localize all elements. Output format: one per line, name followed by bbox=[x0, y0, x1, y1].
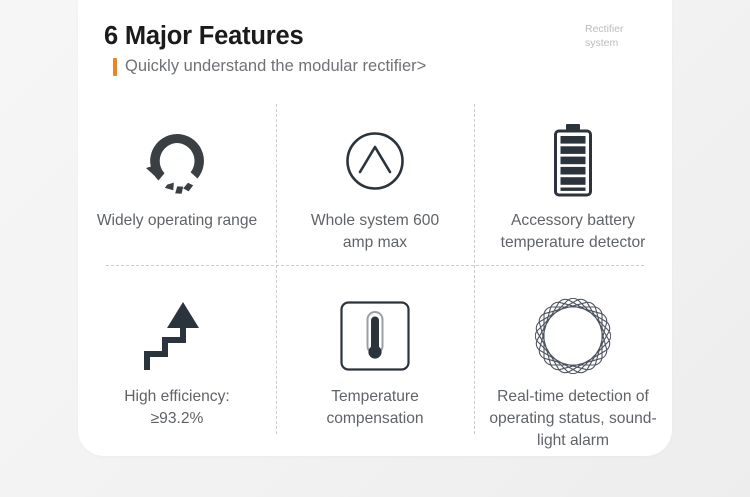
battery-icon bbox=[538, 118, 608, 204]
feature-cell-high-efficiency: High efficiency: ≥93.2% bbox=[78, 278, 276, 456]
feature-cell-battery-temperature-detector: Accessory battery temperature detector bbox=[474, 100, 672, 278]
feature-cell-realtime-detection: Real-time detection of operating status,… bbox=[474, 278, 672, 456]
circle-chevron-up-icon bbox=[340, 118, 410, 204]
thermometer-icon bbox=[339, 292, 411, 380]
feature-label: Accessory battery temperature detector bbox=[501, 210, 646, 254]
subtitle-row: Quickly understand the modular rectifier… bbox=[113, 57, 426, 76]
accent-bar bbox=[113, 58, 117, 76]
page-title: 6 Major Features bbox=[104, 22, 303, 51]
feature-label: Widely operating range bbox=[97, 210, 257, 232]
starburst-squares-icon bbox=[535, 292, 611, 380]
corner-tag-label: Rectifier system bbox=[585, 22, 649, 50]
features-grid: Widely operating range Whole system 600 … bbox=[78, 100, 672, 456]
feature-label: High efficiency: ≥93.2% bbox=[124, 386, 229, 430]
circular-arrow-icon bbox=[142, 118, 212, 204]
stairs-up-arrow-icon bbox=[139, 292, 215, 380]
feature-card: 6 Major Features Quickly understand the … bbox=[78, 0, 672, 456]
page-root: 6 Major Features Quickly understand the … bbox=[0, 0, 750, 497]
feature-cell-whole-system-amp-max: Whole system 600 amp max bbox=[276, 100, 474, 278]
feature-label: Real-time detection of operating status,… bbox=[489, 386, 656, 452]
feature-label: Temperature compensation bbox=[326, 386, 423, 430]
page-subtitle: Quickly understand the modular rectifier… bbox=[125, 57, 426, 76]
feature-label: Whole system 600 amp max bbox=[311, 210, 439, 254]
feature-cell-temperature-compensation: Temperature compensation bbox=[276, 278, 474, 456]
feature-cell-widely-operating-range: Widely operating range bbox=[78, 100, 276, 278]
